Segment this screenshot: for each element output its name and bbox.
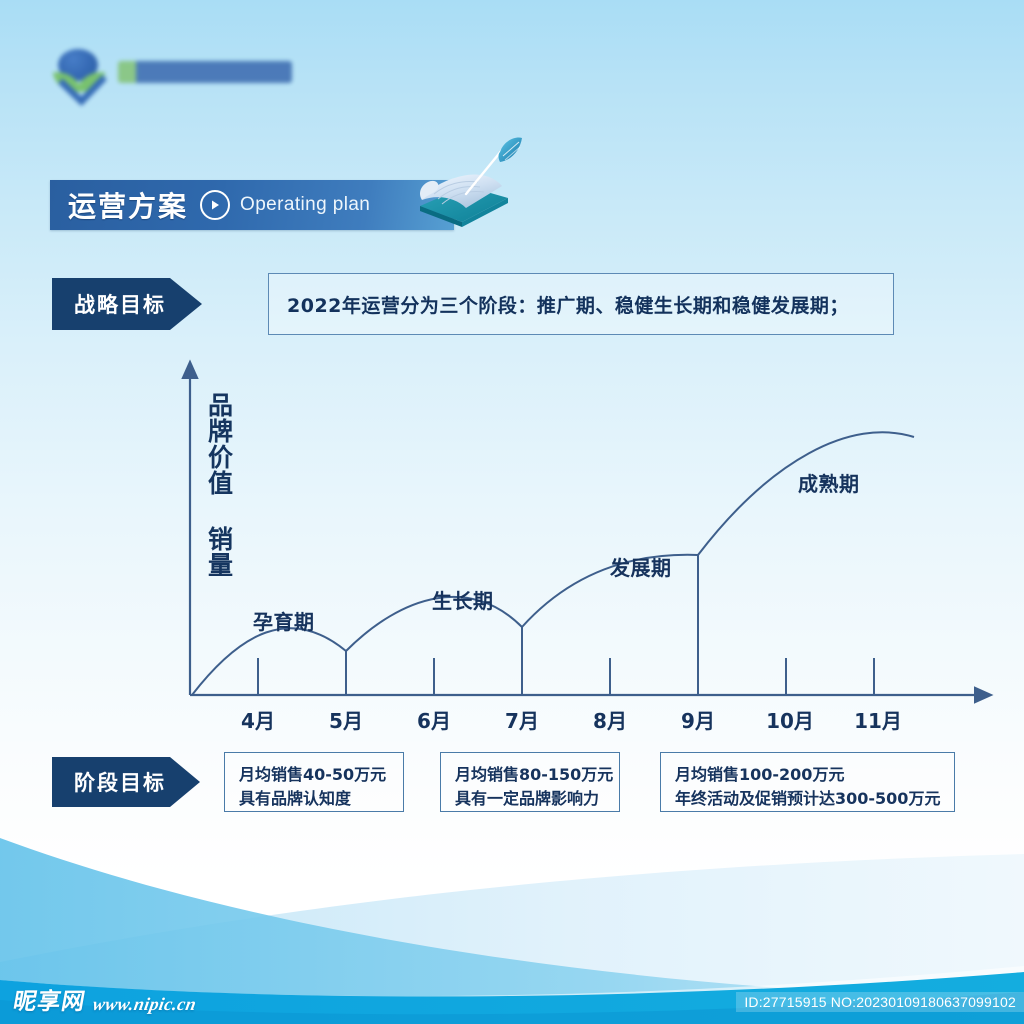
month-label-9: 9月 — [681, 705, 715, 734]
asset-id-text: ID:27715915 NO:20230109180637099102 — [744, 994, 1016, 1010]
month-label-4: 4月 — [241, 705, 275, 734]
globe-leaf-check-icon — [52, 45, 106, 99]
chart-y-axis-label: 品牌价值 销量 — [206, 392, 232, 578]
phase-label-incubation: 孕育期 — [253, 606, 315, 635]
month-label-11: 11月 — [854, 705, 902, 734]
month-label-10: 10月 — [766, 705, 814, 734]
asset-id-badge: ID:27715915 NO:20230109180637099102 — [736, 992, 1024, 1012]
strategy-goal-tag: 战略目标 — [52, 278, 237, 330]
watermark-site-name: 昵享网 — [11, 982, 89, 1016]
footer-bar: 昵享网 www.nipic.cn ID:27715915 NO:20230109… — [0, 980, 1024, 1024]
strategy-goal-tag-label: 战略目标 — [74, 289, 166, 319]
month-label-7: 7月 — [505, 705, 539, 734]
month-label-8: 8月 — [593, 705, 627, 734]
phase-goal-tag-label: 阶段目标 — [74, 767, 166, 797]
phase-label-maturity: 成熟期 — [798, 468, 860, 497]
page-title-banner: 运营方案 Operating plan — [50, 180, 454, 230]
month-label-6: 6月 — [417, 705, 451, 734]
phase-label-growth: 生长期 — [432, 585, 494, 614]
play-circle-icon — [200, 190, 230, 220]
lifecycle-growth-chart — [170, 365, 1000, 735]
strategy-goal-text: 2022年运营分为三个阶段：推广期、稳健生长期和稳健发展期； — [287, 291, 849, 318]
page-title-en: Operating plan — [240, 194, 370, 216]
month-label-5: 5月 — [329, 705, 363, 734]
company-logo — [52, 44, 292, 100]
phase-goal-line: 月均销售100-200万元 — [675, 763, 942, 787]
tag-arrow-point — [170, 278, 202, 330]
watermark-site-url: www.nipic.cn — [91, 994, 198, 1016]
strategy-goal-box: 2022年运营分为三个阶段：推广期、稳健生长期和稳健发展期； — [268, 273, 894, 335]
phase-goal-line: 月均销售80-150万元 — [455, 763, 607, 787]
logo-wordmark — [118, 61, 292, 83]
phase-goal-line: 月均销售40-50万元 — [239, 763, 391, 787]
book-quill-icon — [404, 136, 524, 236]
page-title-cn: 运营方案 — [68, 185, 188, 225]
site-watermark: 昵享网 www.nipic.cn — [11, 982, 200, 1016]
phase-label-development: 发展期 — [610, 552, 672, 581]
poster-canvas: 运营方案 Operating plan — [0, 0, 1024, 1024]
